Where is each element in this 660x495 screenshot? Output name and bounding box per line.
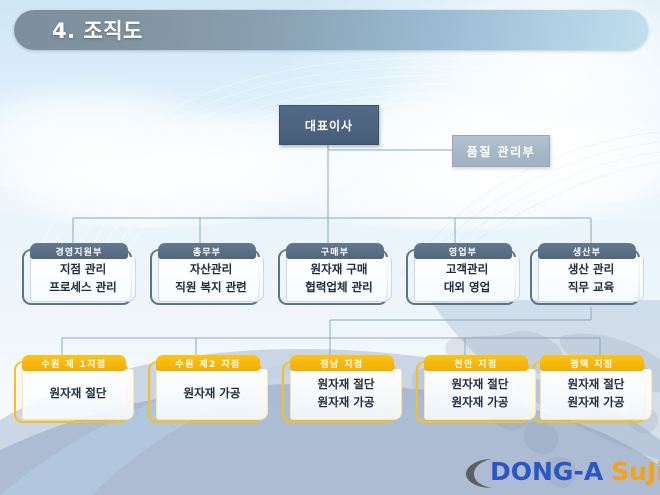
node-line: 프로세스 관리 [49,279,116,297]
node-line: 원자재 절단 [568,376,625,394]
node-header: 영업부 [414,243,512,259]
node-line: 원자재 가공 [452,394,509,412]
node-department-2[interactable]: 구매부 원자재 구매 협력업체 관리 [278,243,396,305]
slide-canvas: 4. 조직도 [0,0,660,495]
node-department-0[interactable]: 경영지원부 지점 관리 프로세스 관리 [22,243,140,305]
node-line: 원자재 절단 [50,385,107,403]
company-logo: DONG-ASuJi [452,455,652,491]
node-line: 지점 관리 [60,261,106,279]
node-body: 지점 관리 프로세스 관리 [30,257,136,302]
logo-primary-text: DONG-A [490,457,603,486]
node-line: 원자재 가공 [184,385,241,403]
logo-secondary-text: SuJi [611,457,660,486]
node-line: 직무 교육 [568,279,614,297]
node-line: 직원 복지 관련 [175,279,247,297]
logo-wordmark: DONG-ASuJi [490,457,660,486]
node-department-4[interactable]: 생산부 생산 관리 직무 교육 [530,243,648,305]
node-body: 생산 관리 직무 교육 [538,257,644,302]
node-body: 원자재 구매 협력업체 관리 [286,257,392,302]
node-quality-management[interactable]: 품질 관리부 [452,135,550,167]
node-body: 고객관리 대외 영업 [414,257,520,302]
node-line: 대외 영업 [444,279,490,297]
node-body: 자산관리 직원 복지 관련 [158,257,264,302]
node-header: 정남 지점 [290,355,394,371]
node-line: 고객관리 [446,261,488,279]
node-department-3[interactable]: 영업부 고객관리 대외 영업 [406,243,524,305]
node-quality-management-label: 품질 관리부 [467,143,535,160]
node-header: 평택 지점 [540,355,644,371]
node-header: 수원 제2 지점 [156,355,260,371]
node-line: 원자재 절단 [452,376,509,394]
node-line: 자산관리 [190,261,232,279]
node-branch-2[interactable]: 정남 지점 원자재 절단 원자재 가공 [282,355,406,423]
node-header: 천안 지점 [424,355,528,371]
node-line: 협력업체 관리 [305,279,372,297]
node-header: 총무부 [158,243,256,259]
node-line: 원자재 절단 [318,376,375,394]
node-ceo-label: 대표이사 [305,117,353,134]
node-branch-3[interactable]: 천안 지점 원자재 절단 원자재 가공 [416,355,540,423]
node-line: 생산 관리 [568,261,614,279]
node-department-1[interactable]: 총무부 자산관리 직원 복지 관련 [150,243,268,305]
node-body: 원자재 가공 [156,369,268,420]
node-body: 원자재 절단 [22,369,134,420]
node-ceo[interactable]: 대표이사 [279,105,379,145]
node-header: 경영지원부 [30,243,128,259]
node-header: 구매부 [286,243,384,259]
node-header: 수원 제 1지점 [22,355,126,371]
node-branch-4[interactable]: 평택 지점 원자재 절단 원자재 가공 [532,355,656,423]
node-header: 생산부 [538,243,636,259]
node-body: 원자재 절단 원자재 가공 [424,369,536,420]
node-line: 원자재 구매 [311,261,368,279]
node-branch-0[interactable]: 수원 제 1지점 원자재 절단 [14,355,138,423]
node-body: 원자재 절단 원자재 가공 [290,369,402,420]
node-branch-1[interactable]: 수원 제2 지점 원자재 가공 [148,355,272,423]
node-line: 원자재 가공 [568,394,625,412]
node-body: 원자재 절단 원자재 가공 [540,369,652,420]
node-line: 원자재 가공 [318,394,375,412]
